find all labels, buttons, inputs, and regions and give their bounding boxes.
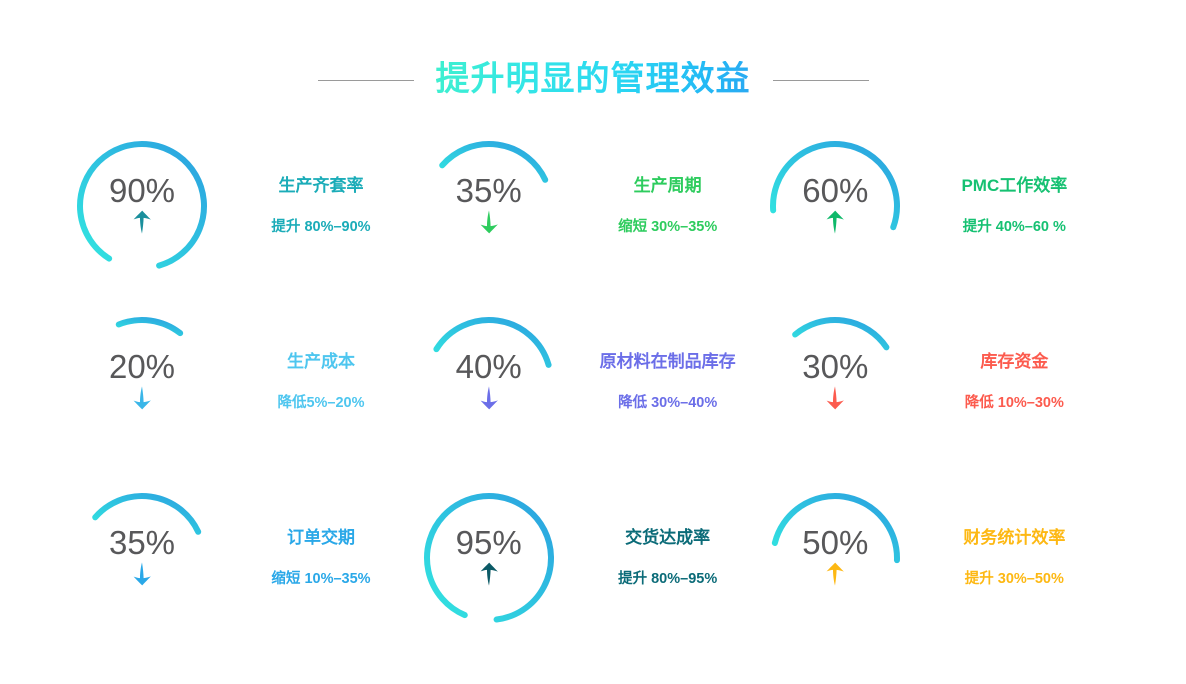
metric-delta: 提升 80%–95% [618, 571, 717, 588]
arrow-down-icon [131, 561, 153, 587]
arrow-glyph [480, 562, 497, 585]
ring-center: 35% [74, 490, 210, 626]
metric-labels: PMC工作效率提升 40%–60 % [919, 176, 1109, 236]
metric-name: 财务统计效率 [963, 528, 1065, 548]
metric-value: 60% [802, 174, 868, 207]
metric-name: 原材料在制品库存 [600, 352, 736, 372]
metric-labels: 交货达成率提升 80%–95% [573, 528, 763, 588]
progress-ring: 40% [421, 314, 557, 450]
metric-labels: 生产齐套率提升 80%–90% [226, 176, 416, 236]
arrow-glyph [827, 386, 844, 409]
metric-labels: 生产周期缩短 30%–35% [573, 176, 763, 236]
metric-card: 30%库存资金降低 10%–30% [767, 294, 1114, 470]
metric-card: 60%PMC工作效率提升 40%–60 % [767, 118, 1114, 294]
arrow-up-icon [824, 561, 846, 587]
arrow-glyph [134, 562, 151, 585]
metric-labels: 财务统计效率提升 30%–50% [919, 528, 1109, 588]
metric-delta: 降低 30%–40% [618, 395, 717, 412]
metric-value: 95% [456, 526, 522, 559]
ring-center: 30% [767, 314, 903, 450]
arrow-glyph [134, 386, 151, 409]
metric-value: 20% [109, 350, 175, 383]
metric-value: 90% [109, 174, 175, 207]
metric-value: 30% [802, 350, 868, 383]
metric-card: 20%生产成本降低5%–20% [74, 294, 421, 470]
metric-value: 40% [456, 350, 522, 383]
arrow-down-icon [824, 385, 846, 411]
metric-name: 交货达成率 [625, 528, 710, 548]
ring-center: 40% [421, 314, 557, 450]
arrow-down-icon [131, 385, 153, 411]
arrow-up-icon [131, 209, 153, 235]
metric-name: 生产周期 [634, 176, 702, 196]
ring-center: 20% [74, 314, 210, 450]
metric-delta: 降低5%–20% [277, 395, 364, 412]
progress-ring: 60% [767, 138, 903, 274]
metric-labels: 库存资金降低 10%–30% [919, 352, 1109, 412]
ring-center: 35% [421, 138, 557, 274]
page-title: 提升明显的管理效益 [436, 61, 751, 98]
arrow-glyph [134, 210, 151, 233]
arrow-up-icon [478, 561, 500, 587]
metric-delta: 提升 30%–50% [965, 571, 1064, 588]
metric-labels: 生产成本降低5%–20% [226, 352, 416, 412]
metric-name: 订单交期 [287, 528, 355, 548]
metric-card: 35%订单交期缩短 10%–35% [74, 470, 421, 646]
metric-value: 35% [456, 174, 522, 207]
arrow-up-icon [824, 209, 846, 235]
progress-ring: 20% [74, 314, 210, 450]
page-header: 提升明显的管理效益 [0, 52, 1186, 108]
metric-delta: 缩短 10%–35% [271, 571, 370, 588]
title-rule-right [773, 80, 869, 81]
metric-name: 库存资金 [980, 352, 1048, 372]
progress-ring: 50% [767, 490, 903, 626]
ring-center: 90% [74, 138, 210, 274]
metric-value: 35% [109, 526, 175, 559]
metric-card: 50%财务统计效率提升 30%–50% [767, 470, 1114, 646]
metric-card: 35%生产周期缩短 30%–35% [421, 118, 768, 294]
arrow-glyph [827, 562, 844, 585]
metrics-grid: 90%生产齐套率提升 80%–90%35%生产周期缩短 30%–35%60%PM… [74, 118, 1114, 646]
metric-name: PMC工作效率 [961, 176, 1067, 196]
title-rule-left [318, 80, 414, 81]
metric-labels: 原材料在制品库存降低 30%–40% [573, 352, 763, 412]
metric-labels: 订单交期缩短 10%–35% [226, 528, 416, 588]
metric-value: 50% [802, 526, 868, 559]
progress-ring: 30% [767, 314, 903, 450]
ring-center: 60% [767, 138, 903, 274]
progress-ring: 35% [421, 138, 557, 274]
progress-ring: 35% [74, 490, 210, 626]
metric-card: 95%交货达成率提升 80%–95% [421, 470, 768, 646]
arrow-glyph [827, 210, 844, 233]
arrow-glyph [480, 210, 497, 233]
ring-center: 95% [421, 490, 557, 626]
metric-card: 90%生产齐套率提升 80%–90% [74, 118, 421, 294]
metric-delta: 提升 80%–90% [271, 219, 370, 236]
progress-ring: 90% [74, 138, 210, 274]
arrow-glyph [480, 386, 497, 409]
progress-ring: 95% [421, 490, 557, 626]
metric-name: 生产成本 [287, 352, 355, 372]
metric-name: 生产齐套率 [279, 176, 364, 196]
ring-center: 50% [767, 490, 903, 626]
arrow-down-icon [478, 385, 500, 411]
metric-delta: 提升 40%–60 % [963, 219, 1066, 236]
arrow-down-icon [478, 209, 500, 235]
metric-card: 40%原材料在制品库存降低 30%–40% [421, 294, 768, 470]
metric-delta: 缩短 30%–35% [618, 219, 717, 236]
metric-delta: 降低 10%–30% [965, 395, 1064, 412]
